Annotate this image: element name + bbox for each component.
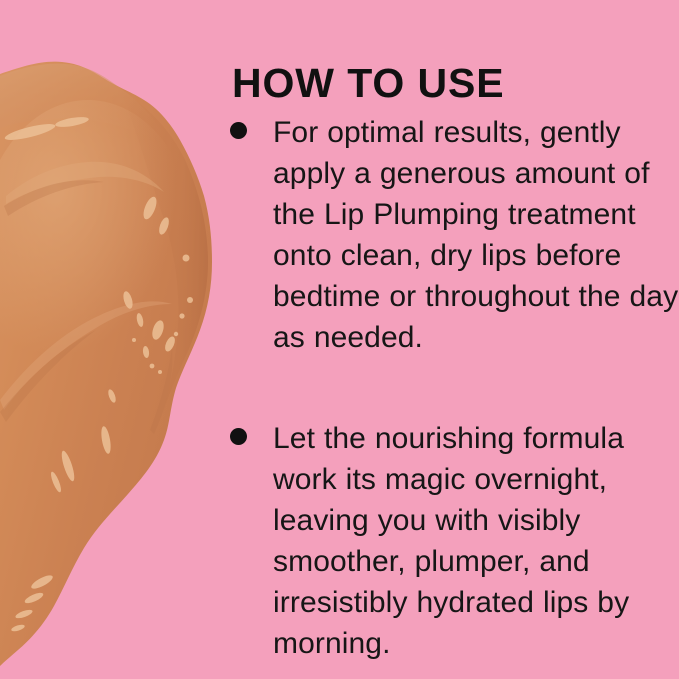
list-item: Let the nourishing formula work its magi… bbox=[230, 418, 679, 664]
bullet-dot-icon bbox=[230, 428, 247, 445]
product-info-panel: HOW TO USE For optimal results, gently a… bbox=[0, 0, 679, 679]
list-item-text: Let the nourishing formula work its magi… bbox=[230, 418, 679, 664]
instructions-content: HOW TO USE For optimal results, gently a… bbox=[230, 0, 679, 679]
page-title: HOW TO USE bbox=[232, 63, 504, 104]
list-item: For optimal results, gently apply a gene… bbox=[230, 112, 679, 358]
cosmetic-product-swatch bbox=[0, 0, 260, 679]
bullet-dot-icon bbox=[230, 122, 247, 139]
list-item-text: For optimal results, gently apply a gene… bbox=[230, 112, 679, 358]
